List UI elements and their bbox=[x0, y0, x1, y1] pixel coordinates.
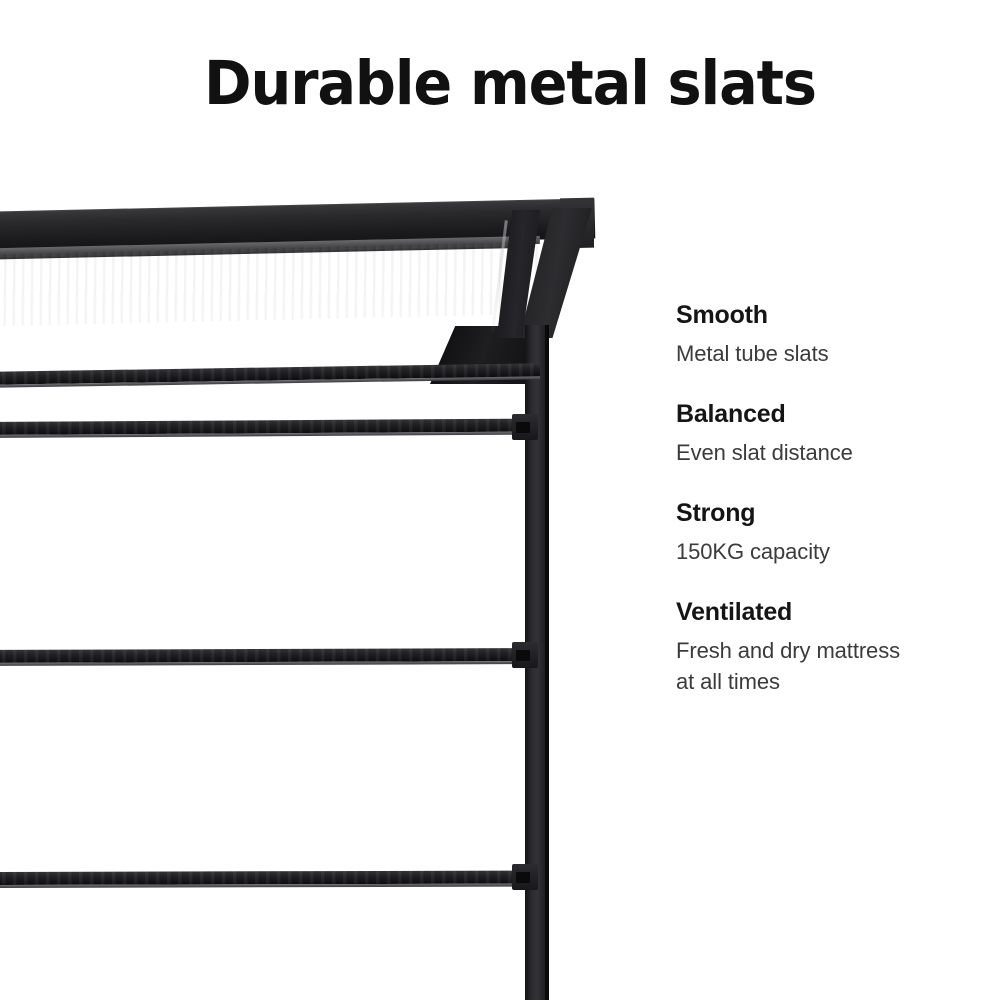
metal-slat bbox=[0, 648, 528, 663]
slat-texture bbox=[0, 871, 528, 885]
feature-description: Metal tube slats bbox=[676, 338, 994, 369]
infographic-page: Durable metal slats bbox=[0, 0, 1000, 1000]
feature-item-ventilated: Ventilated Fresh and dry mattress at all… bbox=[676, 597, 994, 697]
feature-heading: Smooth bbox=[676, 300, 994, 330]
feature-description: Fresh and dry mattress at all times bbox=[676, 635, 994, 697]
feature-list: Smooth Metal tube slats Balanced Even sl… bbox=[676, 300, 994, 697]
metal-slat bbox=[0, 871, 528, 885]
side-rail-post-edge bbox=[545, 325, 549, 1000]
slat-bracket-notch bbox=[516, 872, 530, 883]
metal-slat bbox=[0, 419, 528, 435]
slat-bracket-notch bbox=[516, 422, 530, 433]
feature-heading: Strong bbox=[676, 498, 994, 528]
product-photo bbox=[0, 150, 640, 1000]
slat-bracket bbox=[512, 864, 538, 890]
feature-heading: Balanced bbox=[676, 399, 994, 429]
feature-heading: Ventilated bbox=[676, 597, 994, 627]
slat-texture bbox=[0, 419, 528, 435]
feature-description: Even slat distance bbox=[676, 437, 994, 468]
slat-bracket bbox=[512, 642, 538, 668]
feature-description: 150KG capacity bbox=[676, 536, 994, 567]
slat-texture bbox=[0, 648, 528, 663]
feature-item-smooth: Smooth Metal tube slats bbox=[676, 300, 994, 369]
slat-bracket-notch bbox=[516, 650, 530, 661]
feature-item-balanced: Balanced Even slat distance bbox=[676, 399, 994, 468]
feature-item-strong: Strong 150KG capacity bbox=[676, 498, 994, 567]
page-title: Durable metal slats bbox=[31, 52, 990, 116]
wood-grain-texture bbox=[0, 242, 551, 327]
slat-bracket bbox=[512, 414, 538, 440]
wood-headboard-panel bbox=[0, 242, 551, 327]
